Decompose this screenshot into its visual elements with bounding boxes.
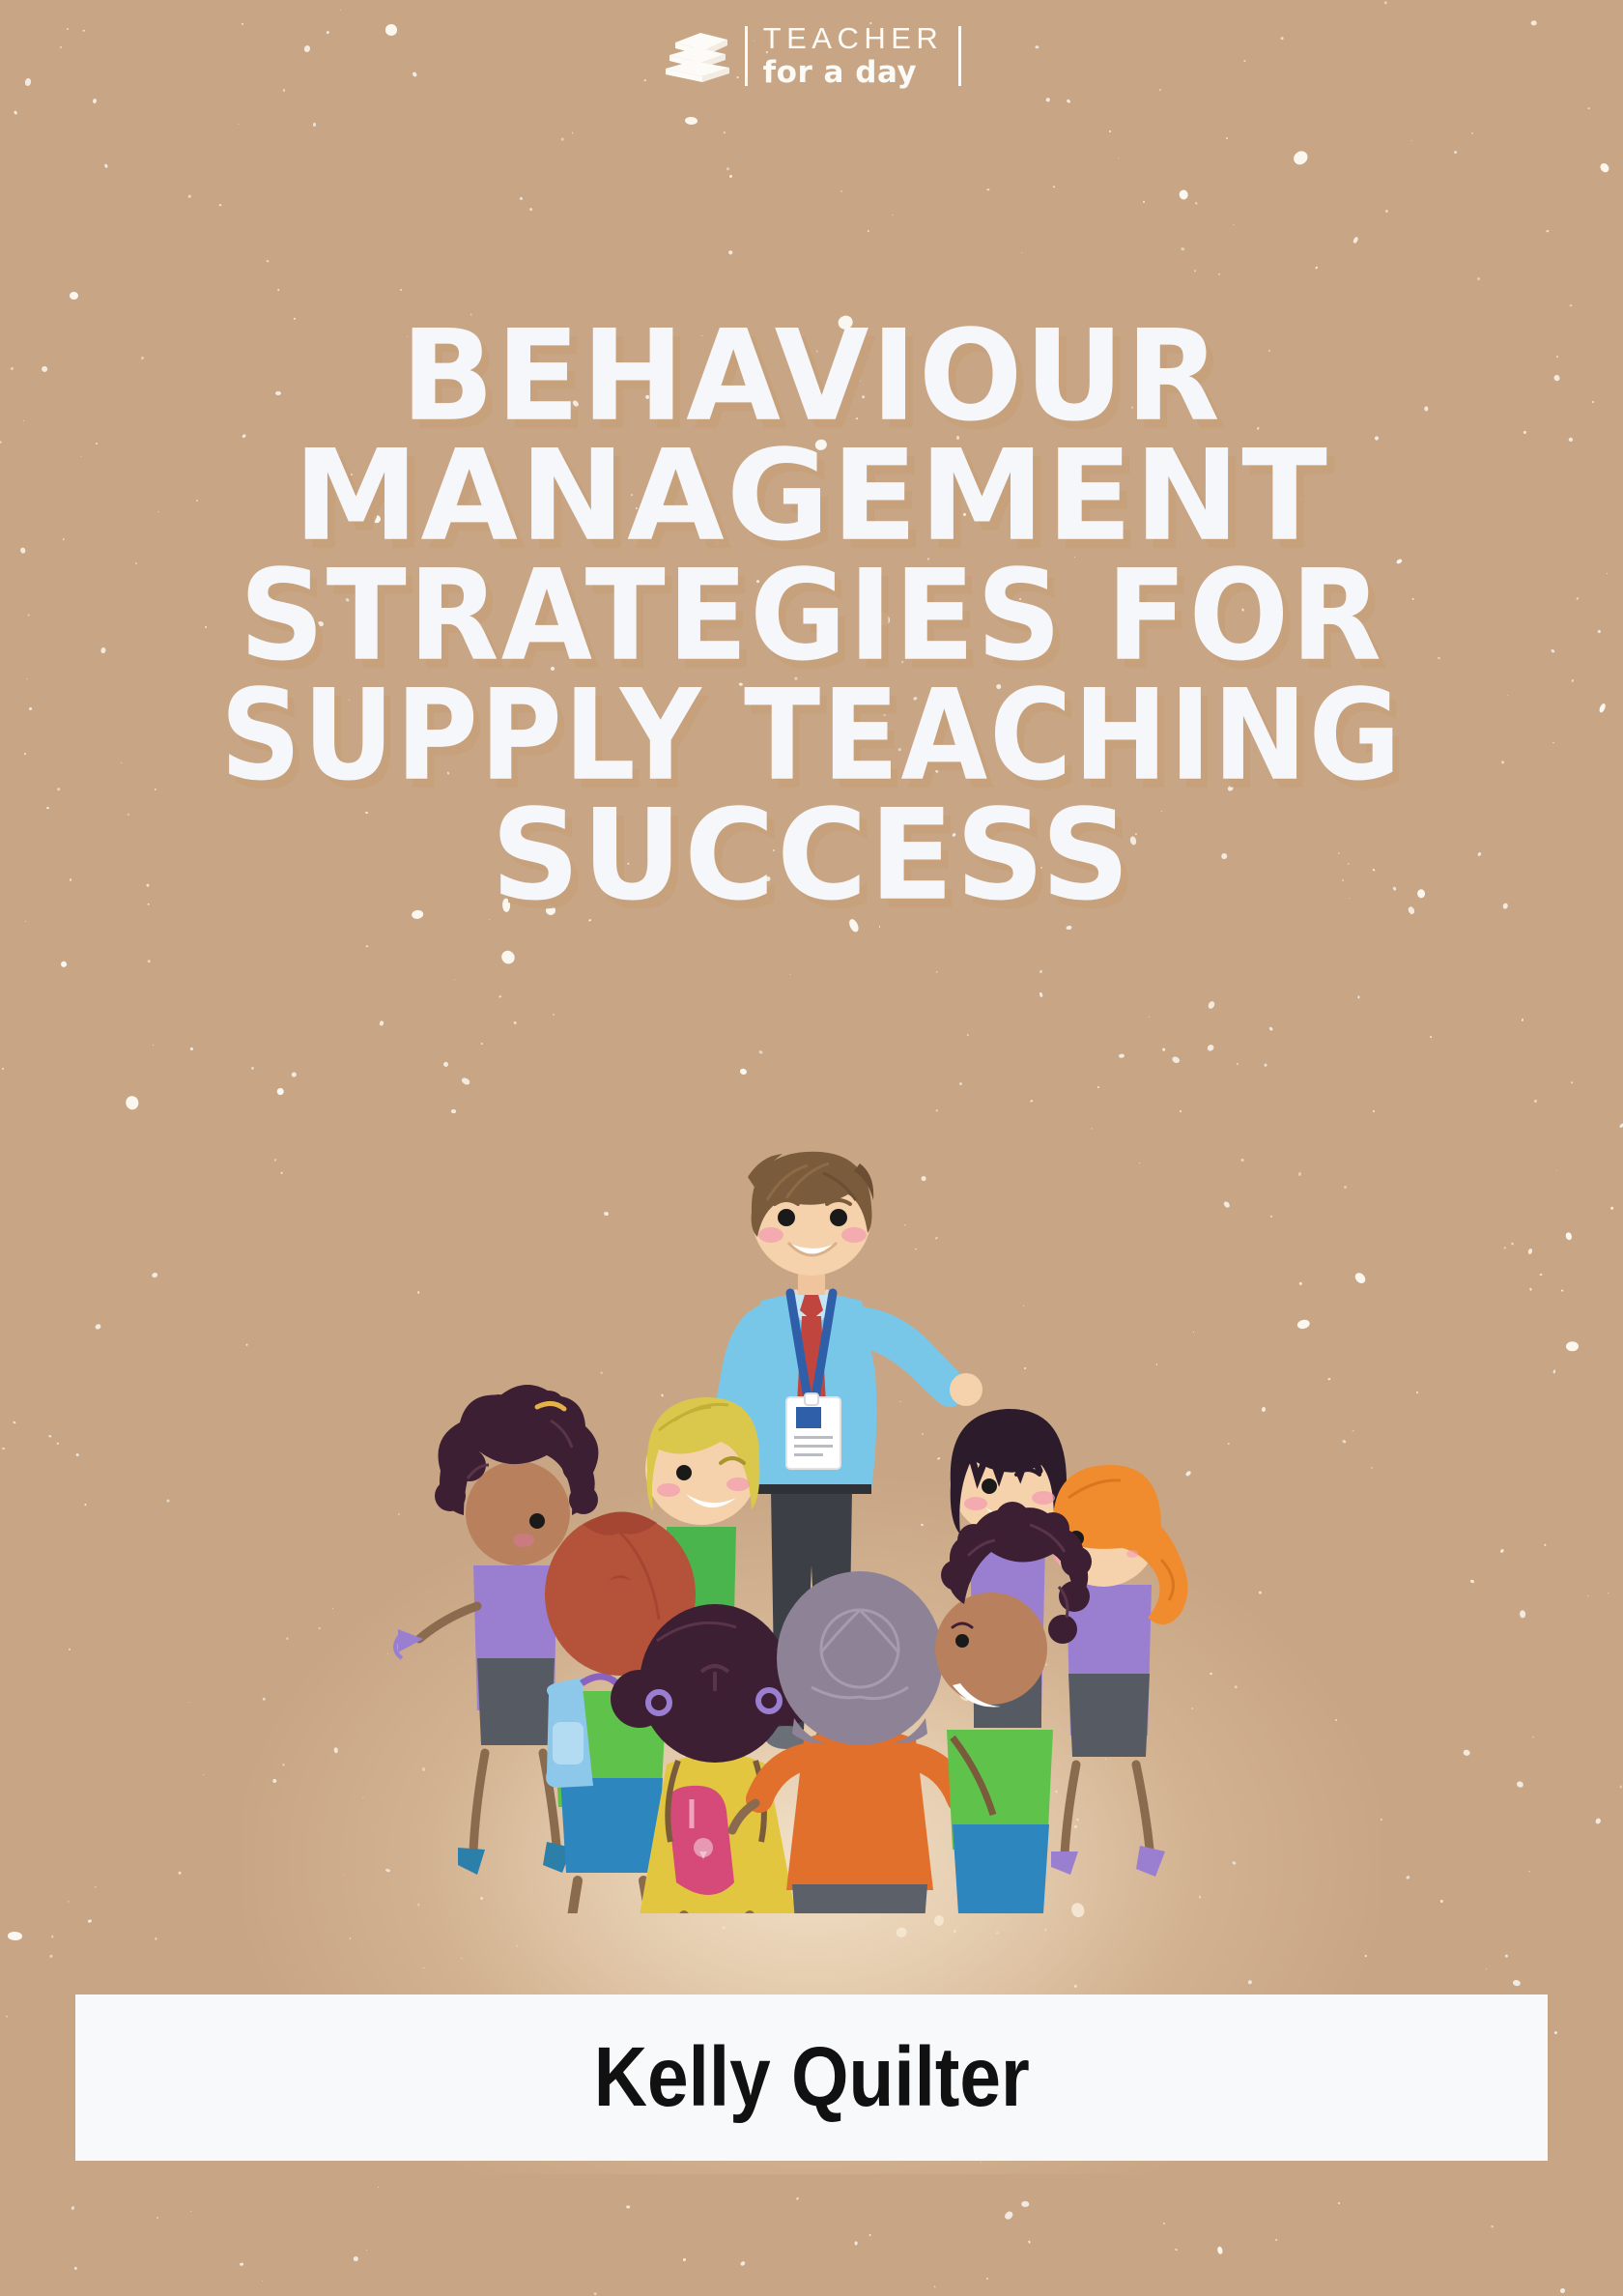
logo-brand-line-1: TEACHER <box>763 23 944 53</box>
title-line-1: BEHAVIOUR <box>0 319 1623 436</box>
logo-wordmark: TEACHER for a day <box>748 23 959 89</box>
book-cover: TEACHER for a day BEHAVIOUR MANAGEMENT S… <box>0 0 1623 2296</box>
title-line-4: SUPPLY TEACHING <box>0 677 1623 794</box>
child-ginger-purple <box>1049 1465 1188 1877</box>
title-line-3: STRATEGIES FOR <box>0 558 1623 674</box>
logo-divider-right <box>958 26 961 86</box>
brand-logo: TEACHER for a day <box>0 17 1623 95</box>
author-name: Kelly Quilter <box>593 2029 1029 2126</box>
stacked-books-icon <box>662 26 733 86</box>
author-banner: Kelly Quilter <box>75 1995 1548 2161</box>
title-line-5: SUCCESS <box>0 797 1623 914</box>
teacher-with-children-illustration <box>377 1111 1246 1913</box>
title-line-2: MANAGEMENT <box>0 438 1623 555</box>
logo-brand-line-2: for a day <box>763 57 944 89</box>
cover-title: BEHAVIOUR MANAGEMENT STRATEGIES FOR SUPP… <box>0 325 1623 907</box>
